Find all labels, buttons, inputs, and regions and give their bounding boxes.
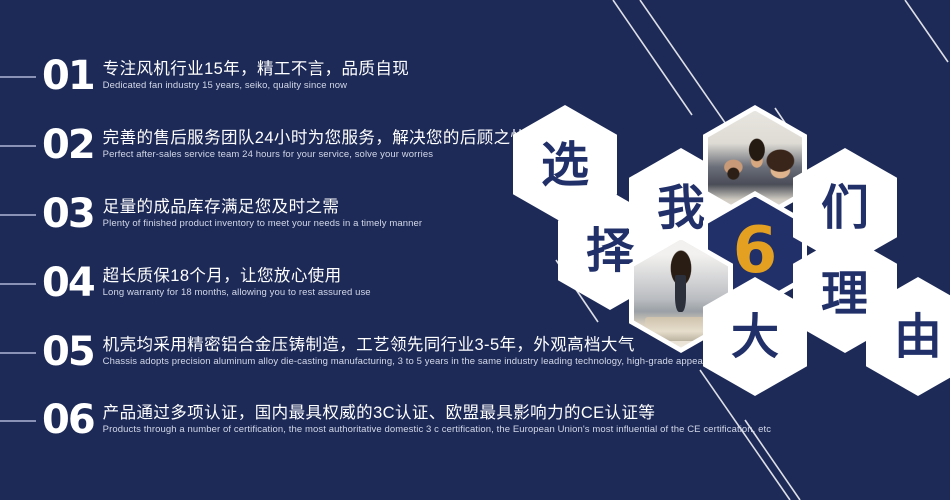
hex-glyph: 理 [821,270,869,318]
hex-glyph-number-six: 6 [733,219,778,283]
hex-glyph: 选 [541,141,589,189]
hex-glyph: 们 [821,184,869,232]
hex-glyph: 择 [586,227,634,275]
hexagon-cluster: 选 择 我 6 们 [0,0,950,500]
hex-glyph: 我 [657,184,705,232]
hex-glyph: 由 [894,313,942,361]
hex-glyph: 大 [731,313,779,361]
banner-canvas: 01 专注风机行业15年，精工不言，品质自现 Dedicated fan ind… [0,0,950,500]
